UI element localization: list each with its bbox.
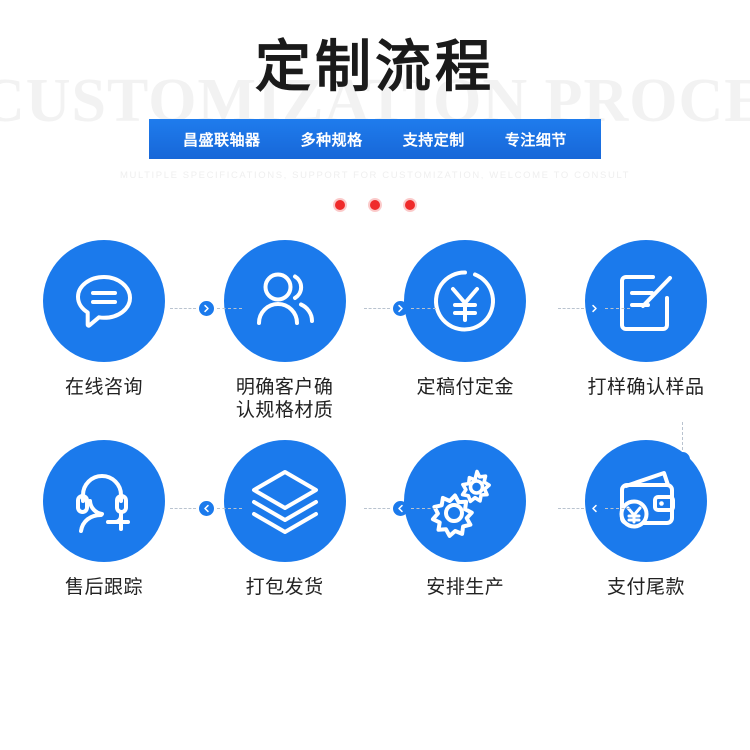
red-dot	[335, 200, 345, 210]
step-label: 明确客户确 认规格材质	[236, 376, 334, 422]
process-step-online-consult[interactable]: 在线咨询	[38, 240, 170, 422]
chevron-left-icon	[199, 501, 214, 516]
page-title: 定制流程	[0, 40, 750, 96]
process-step-final-payment[interactable]: 支付尾款	[580, 440, 712, 599]
step-label: 支付尾款	[607, 576, 685, 599]
step-label: 安排生产	[426, 576, 504, 599]
tag-item-0[interactable]: 昌盛联轴器	[183, 129, 261, 150]
process-row-1: 在线咨询 明确客户确 认规格材质	[0, 240, 750, 422]
layers-stack-icon	[246, 462, 324, 540]
document-edit-icon	[610, 265, 682, 337]
step-label: 在线咨询	[65, 376, 143, 399]
step-label: 打样确认样品	[587, 376, 704, 399]
red-dot-divider	[0, 200, 750, 210]
step-icon-circle	[404, 240, 526, 362]
step-icon-circle	[585, 440, 707, 562]
headset-support-icon	[66, 463, 142, 539]
process-step-after-sales[interactable]: 售后跟踪	[38, 440, 170, 599]
chevron-right-icon	[199, 301, 214, 316]
people-group-icon	[247, 263, 323, 339]
process-step-arrange-production[interactable]: 安排生产	[399, 440, 531, 599]
step-icon-circle	[404, 440, 526, 562]
chat-bubble-icon	[67, 264, 141, 338]
step-icon-circle	[43, 440, 165, 562]
step-label: 打包发货	[246, 576, 324, 599]
page-header: CUSTOMIZATION PROCES 定制流程 昌盛联轴器 多种规格 支持定…	[0, 0, 750, 200]
step-label: 售后跟踪	[65, 576, 143, 599]
process-step-sample-confirm[interactable]: 打样确认样品	[580, 240, 712, 422]
process-step-pack-ship[interactable]: 打包发货	[219, 440, 351, 599]
step-icon-circle	[43, 240, 165, 362]
subtitle-english: MULTIPLE SPECIFICATIONS, SUPPORT FOR CUS…	[0, 170, 750, 181]
step-icon-circle	[585, 240, 707, 362]
tag-item-2[interactable]: 支持定制	[403, 129, 465, 150]
process-row-2: 售后跟踪 打包发货	[0, 440, 750, 599]
gears-icon	[426, 462, 504, 540]
step-icon-circle	[224, 240, 346, 362]
yen-circle-icon	[427, 263, 503, 339]
step-icon-circle	[224, 440, 346, 562]
tag-item-3[interactable]: 专注细节	[505, 129, 567, 150]
customization-process-page: CUSTOMIZATION PROCES 定制流程 昌盛联轴器 多种规格 支持定…	[0, 0, 750, 750]
process-flow: 在线咨询 明确客户确 认规格材质	[0, 240, 750, 600]
step-label: 定稿付定金	[417, 376, 515, 399]
red-dot	[405, 200, 415, 210]
process-step-pay-deposit[interactable]: 定稿付定金	[399, 240, 531, 422]
tag-item-1[interactable]: 多种规格	[301, 129, 363, 150]
feature-tag-bar: 昌盛联轴器 多种规格 支持定制 专注细节	[149, 119, 601, 159]
process-step-confirm-spec[interactable]: 明确客户确 认规格材质	[219, 240, 351, 422]
red-dot	[370, 200, 380, 210]
wallet-yen-icon	[608, 463, 684, 539]
